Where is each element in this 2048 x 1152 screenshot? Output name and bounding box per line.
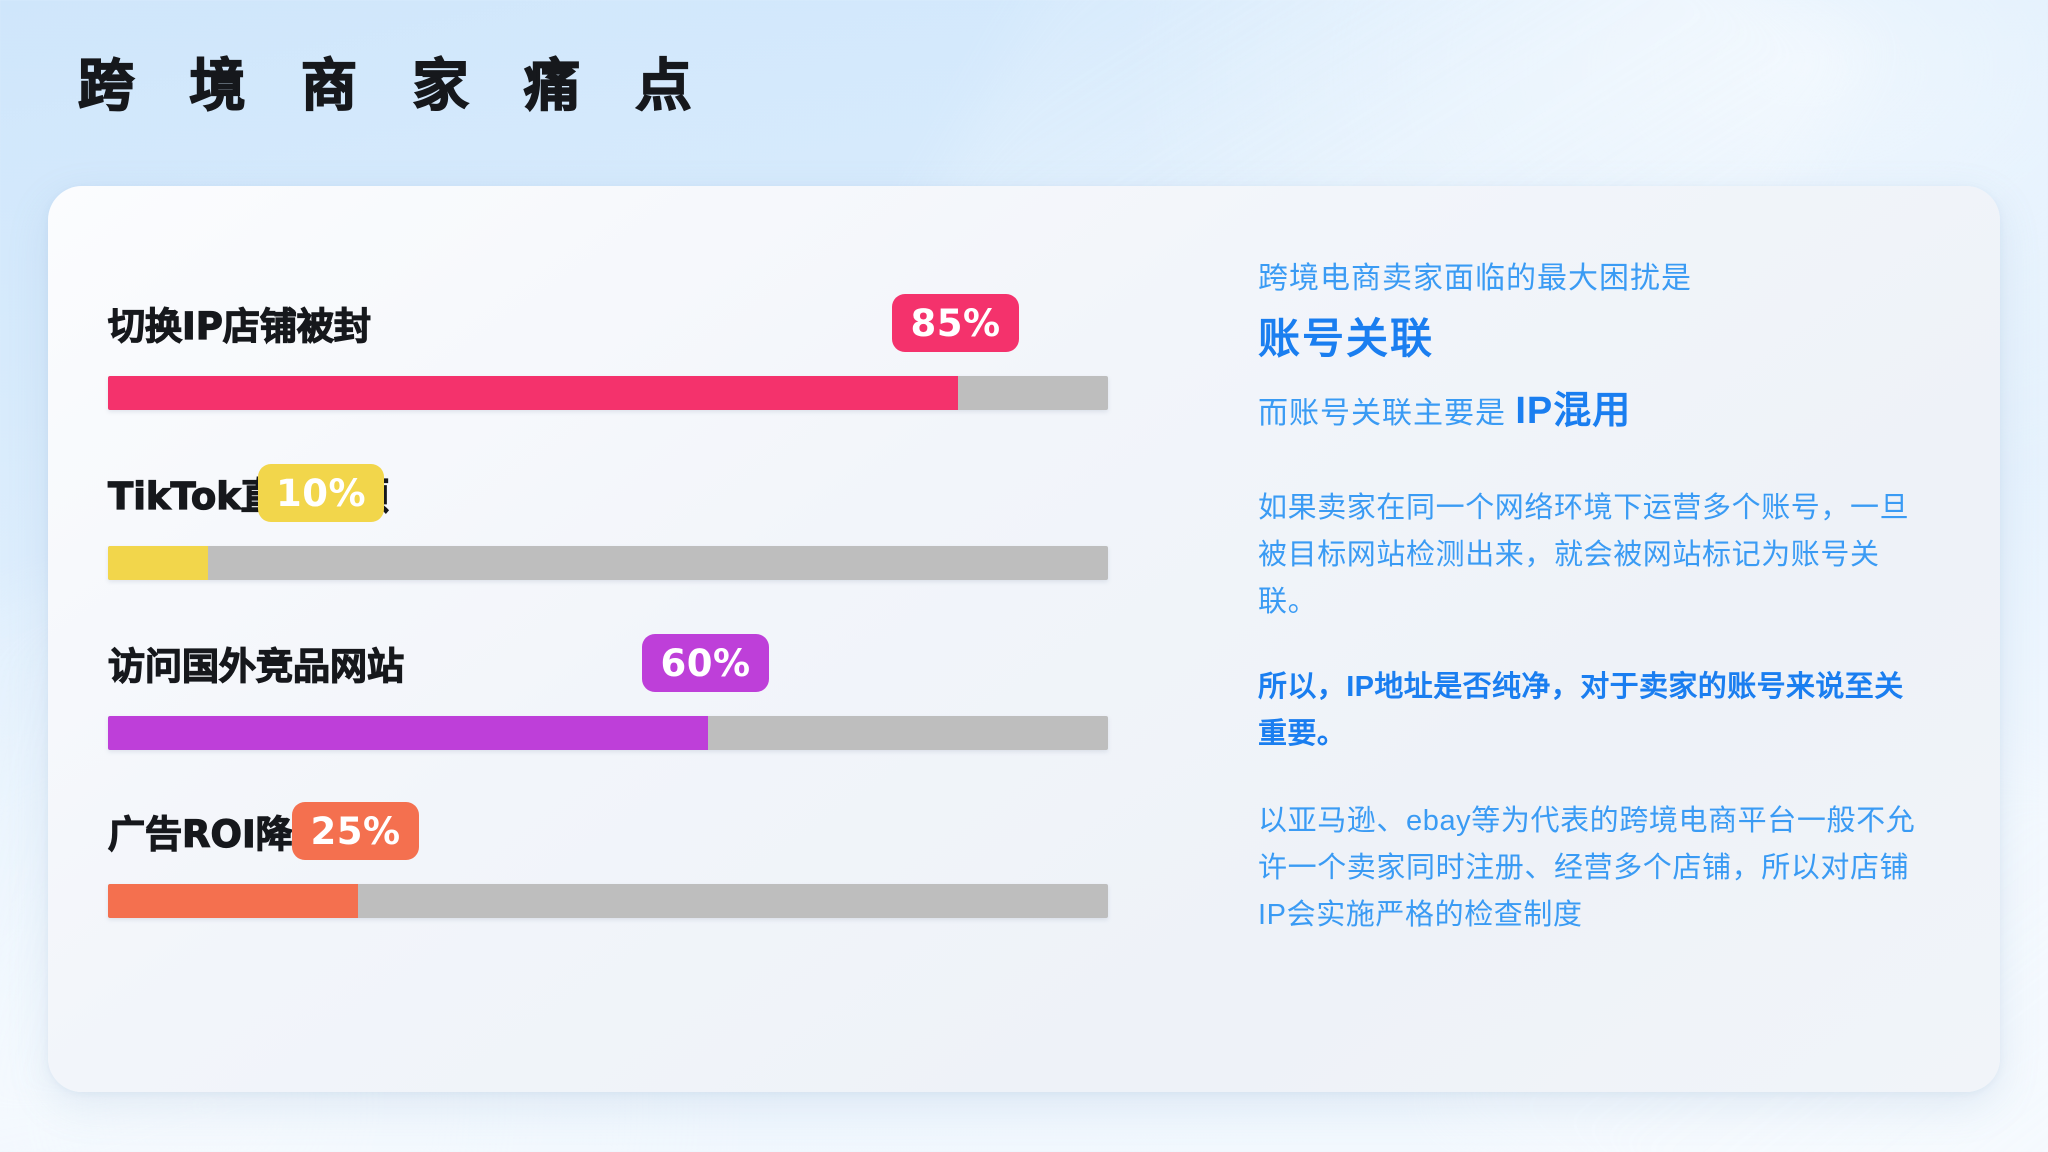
- panel-paragraph-1: 如果卖家在同一个网络环境下运营多个账号，一旦被目标网站检测出来，就会被网站标记为…: [1258, 485, 1930, 626]
- bar-value-badge: 25%: [292, 802, 418, 860]
- bar-track: [108, 884, 1108, 918]
- bar-item: 访问国外竞品网站 60%: [108, 636, 1108, 750]
- bar-track: [108, 546, 1108, 580]
- content-card: 切换IP店铺被封 85% TikTok直播卡顿 10% 访问国外竞品网站 60%: [48, 186, 2000, 1092]
- panel-subline-prefix: 而账号关联主要是: [1258, 397, 1515, 430]
- bar-track: [108, 716, 1108, 750]
- bar-header-row: 访问国外竞品网站 60%: [108, 636, 1108, 696]
- panel-lede: 跨境电商卖家面临的最大困扰是: [1258, 258, 1930, 301]
- info-panel: 跨境电商卖家面临的最大困扰是 账号关联 而账号关联主要是 IP混用 如果卖家在同…: [1192, 186, 2000, 1092]
- panel-paragraph-3: 以亚马逊、ebay等为代表的跨境电商平台一般不允许一个卖家同时注册、经营多个店铺…: [1258, 798, 1930, 939]
- bar-header-row: 切换IP店铺被封 85%: [108, 296, 1108, 356]
- bar-chart: 切换IP店铺被封 85% TikTok直播卡顿 10% 访问国外竞品网站 60%: [48, 186, 1192, 1092]
- panel-subline-emphasis: IP混用: [1515, 390, 1631, 432]
- panel-headline: 账号关联: [1258, 311, 1930, 368]
- bar-header-row: 广告ROI降低 25%: [108, 804, 1108, 864]
- bar-item: 切换IP店铺被封 85%: [108, 296, 1108, 410]
- bar-item: TikTok直播卡顿 10%: [108, 466, 1108, 580]
- bar-value-badge: 60%: [642, 634, 768, 692]
- bar-item: 广告ROI降低 25%: [108, 804, 1108, 918]
- bar-fill: [108, 376, 958, 410]
- bar-value-badge: 85%: [892, 294, 1018, 352]
- bar-track: [108, 376, 1108, 410]
- bar-fill: [108, 884, 358, 918]
- bar-header-row: TikTok直播卡顿 10%: [108, 466, 1108, 526]
- bar-label: 广告ROI降低: [108, 804, 1108, 858]
- bar-fill: [108, 716, 708, 750]
- panel-paragraph-2: 所以，IP地址是否纯净，对于卖家的账号来说至关重要。: [1258, 664, 1930, 758]
- bar-value-badge: 10%: [258, 464, 384, 522]
- panel-subline: 而账号关联主要是 IP混用: [1258, 385, 1930, 439]
- bar-label: 访问国外竞品网站: [108, 636, 1108, 690]
- page-title: 跨 境 商 家 痛 点: [78, 56, 709, 118]
- bar-fill: [108, 546, 208, 580]
